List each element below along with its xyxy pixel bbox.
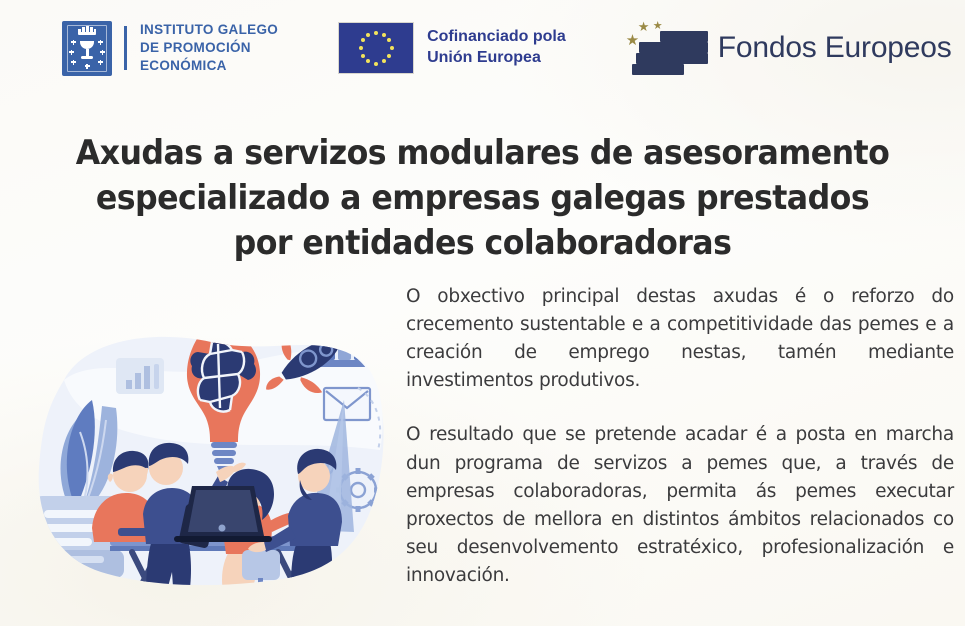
eu-star-icon <box>366 33 370 37</box>
fondos-europeos-label: Fondos Europeos <box>718 31 952 65</box>
eu-star-icon <box>382 33 386 37</box>
logo-european-union: Cofinanciado pola Unión Europea <box>338 22 566 74</box>
page-title: Axudas a servizos modulares de asesorame… <box>67 131 897 266</box>
paragraph-result: O resultado que se pretende acadar é a p… <box>406 421 954 590</box>
eu-cofinancing-label: Cofinanciado pola Unión Europea <box>427 27 566 69</box>
eu-star-icon <box>359 46 363 50</box>
logo-igape: INSTITUTO GALEGO DE PROMOCIÓN ECONÓMICA <box>62 21 278 76</box>
body-text-column: O obxectivo principal destas axudas é o … <box>406 283 954 590</box>
tablet-on-table <box>118 528 148 536</box>
eu-star-icon <box>387 54 391 58</box>
logo-fondos-europeos: ★ ★ ★ Fondos Europeos <box>624 17 952 79</box>
eu-star-icon <box>361 38 365 42</box>
wall-chart-art <box>116 358 164 394</box>
team-meeting-illustration <box>6 300 402 620</box>
eu-star-icon <box>390 46 394 50</box>
eu-flag-icon <box>338 22 414 74</box>
logo-bar: INSTITUTO GALEGO DE PROMOCIÓN ECONÓMICA … <box>0 8 965 88</box>
xunta-coat-of-arms-icon <box>62 21 112 76</box>
eu-star-icon <box>366 59 370 63</box>
fondos-europeos-icon: ★ ★ ★ <box>624 17 710 79</box>
igape-label: INSTITUTO GALEGO DE PROMOCIÓN ECONÓMICA <box>140 21 278 75</box>
eu-star-icon <box>382 59 386 63</box>
eu-star-icon <box>374 31 378 35</box>
eu-star-icon <box>374 62 378 66</box>
eu-star-icon <box>387 38 391 42</box>
eu-star-icon <box>361 54 365 58</box>
poster-page: INSTITUTO GALEGO DE PROMOCIÓN ECONÓMICA … <box>0 0 965 626</box>
envelope-icon <box>324 388 370 420</box>
paragraph-objective: O obxectivo principal destas axudas é o … <box>406 283 954 395</box>
logo-divider <box>124 26 127 70</box>
